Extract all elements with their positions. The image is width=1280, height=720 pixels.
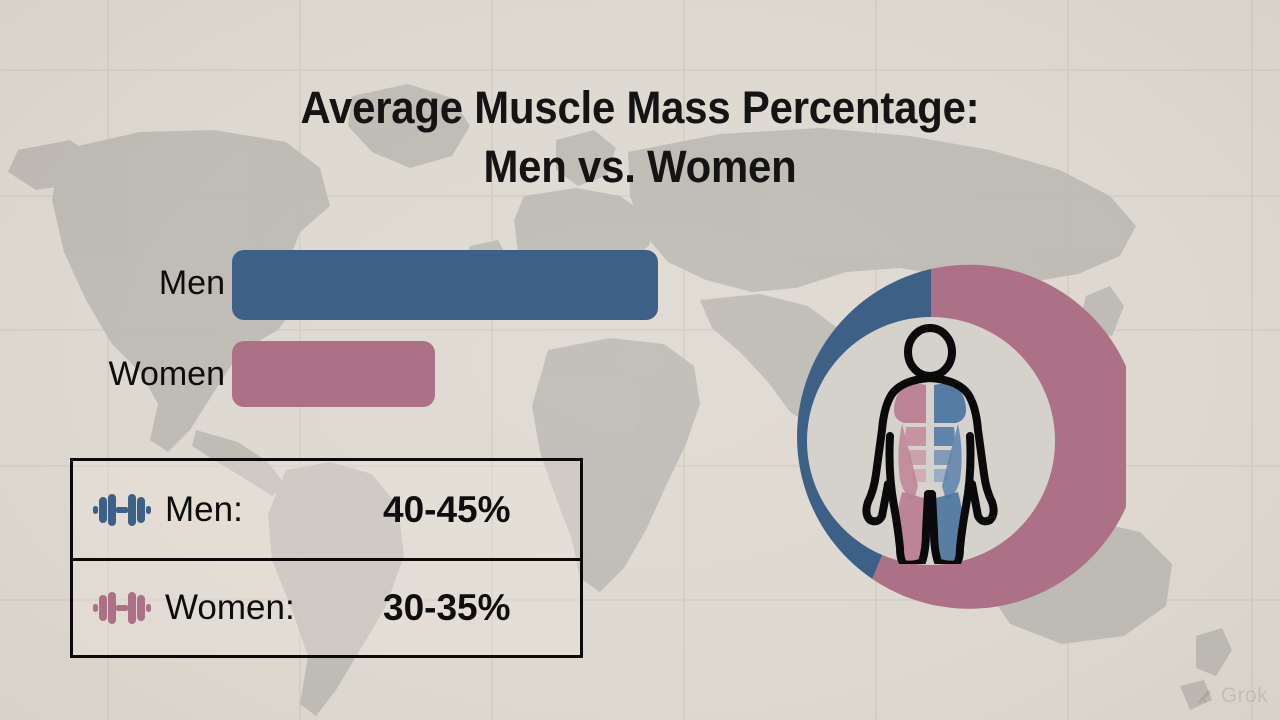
body-outline <box>866 328 993 564</box>
bar-label-women: Women <box>55 355 225 394</box>
infographic-canvas: Average Muscle Mass Percentage: Men vs. … <box>0 0 1280 720</box>
donut-chart <box>736 246 1126 636</box>
grok-logo-icon <box>1193 685 1215 707</box>
muscle-groups <box>894 384 966 562</box>
legend-name-women: Women: <box>165 588 295 628</box>
legend-row-men: Men: 40-45% <box>73 461 580 558</box>
watermark-text: Grok <box>1221 684 1268 708</box>
page-title: Average Muscle Mass Percentage: Men vs. … <box>45 78 1235 197</box>
watermark: Grok <box>1193 684 1268 708</box>
title-line-1: Average Muscle Mass Percentage: <box>45 78 1235 137</box>
bar-women <box>232 341 435 407</box>
legend-value-women: 30-35% <box>383 587 511 629</box>
dumbbell-icon <box>91 490 153 530</box>
legend-name-men: Men: <box>165 490 243 530</box>
dumbbell-icon <box>91 588 153 628</box>
legend-value-men: 40-45% <box>383 489 511 531</box>
title-line-2: Men vs. Women <box>45 137 1235 196</box>
bar-label-men: Men <box>55 264 225 303</box>
legend-table: Men: 40-45% Women: 30-35% <box>70 458 583 658</box>
human-body-muscle-icon <box>832 324 1028 564</box>
legend-row-women: Women: 30-35% <box>73 558 580 655</box>
bar-men <box>232 250 658 320</box>
